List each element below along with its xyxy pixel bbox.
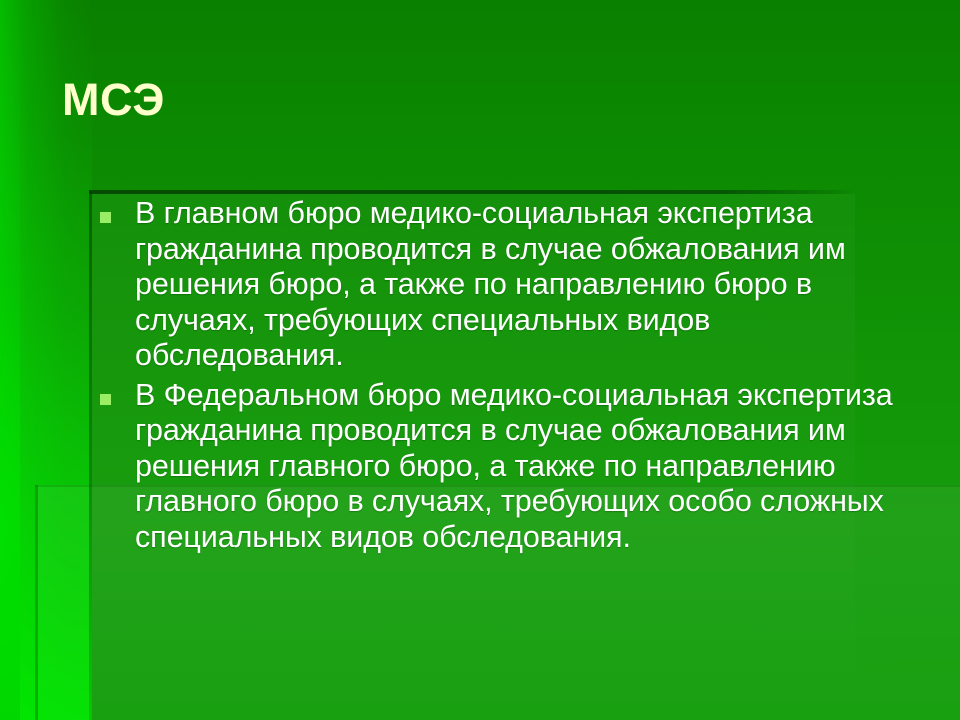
list-item: В главном бюро медико-социальная эксперт…: [100, 196, 900, 374]
presentation-slide: МСЭ В главном бюро медико-социальная экс…: [0, 0, 960, 720]
bullet-text: В Федеральном бюро медико-социальная экс…: [135, 378, 900, 556]
slide-content-panel-left-rule: [89, 190, 92, 720]
list-item: В Федеральном бюро медико-социальная экс…: [100, 378, 900, 556]
slide-background-lower-panel-left-rule: [35, 485, 38, 720]
slide-title: МСЭ: [62, 76, 165, 123]
square-bullet-icon: [100, 394, 111, 405]
bullet-text: В главном бюро медико-социальная эксперт…: [135, 196, 900, 374]
slide-bullet-list: В главном бюро медико-социальная эксперт…: [100, 196, 900, 559]
square-bullet-icon: [100, 212, 111, 223]
slide-background-left-edge: [0, 0, 20, 720]
slide-content-panel-top-rule: [89, 190, 855, 194]
